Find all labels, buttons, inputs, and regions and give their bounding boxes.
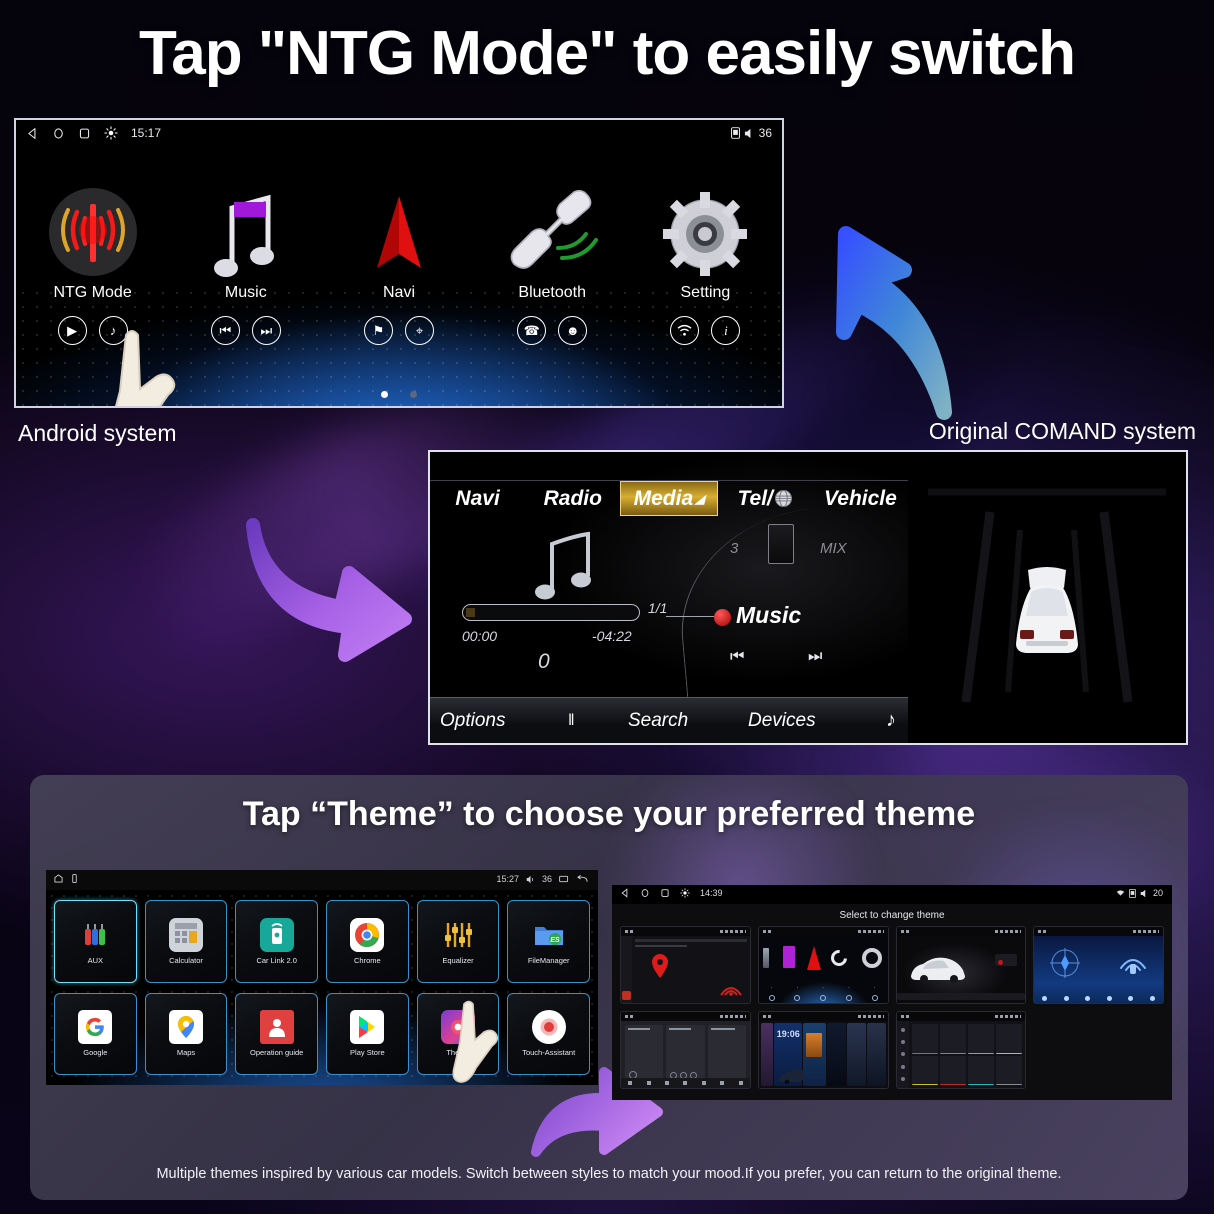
calculator-icon: [169, 918, 203, 952]
android-app-setting[interactable]: Setting i: [629, 186, 782, 345]
theme-chooser-clock: 14:39: [700, 888, 723, 898]
app-grid-head-unit: 15:27 36: [46, 870, 598, 1085]
app-cell-filemanager[interactable]: ES FileManager: [507, 900, 590, 983]
app-cell-operation-guide[interactable]: Operation guide: [235, 993, 318, 1076]
comand-menu-tel-label: Tel/: [738, 487, 773, 511]
app-grid-clock: 15:27: [496, 874, 519, 884]
app-label: Play Store: [350, 1048, 385, 1057]
volume-icon: [744, 128, 755, 139]
comand-track-number: 3: [730, 540, 738, 557]
home-circle-icon[interactable]: [640, 888, 650, 898]
contact-icon[interactable]: ☻: [558, 316, 587, 345]
comand-menu-navi[interactable]: Navi: [430, 481, 525, 516]
app-grid-screen: AUX Calculator: [46, 890, 598, 1085]
comand-track-position: 0: [538, 650, 550, 674]
android-app-label: NTG Mode: [53, 284, 131, 302]
music-note-icon[interactable]: [206, 186, 286, 278]
recent-apps-icon[interactable]: [559, 875, 570, 883]
home-circle-icon[interactable]: [52, 127, 65, 140]
play-store-icon: [350, 1010, 384, 1044]
sd-card-icon: [1129, 889, 1136, 898]
android-app-bluetooth[interactable]: Bluetooth ☎ ☻: [476, 186, 629, 345]
previous-track-icon[interactable]: ⏮: [211, 316, 240, 345]
touch-assistant-icon: [532, 1010, 566, 1044]
comand-media-screen: Navi Radio Media ◢ Tel/ Vehicle: [430, 452, 908, 743]
home-page-indicator[interactable]: [16, 391, 782, 398]
brightness-icon[interactable]: [680, 888, 690, 898]
android-app-navi[interactable]: Navi ⚑ ⌖: [322, 186, 475, 345]
android-system-label: Android system: [18, 420, 177, 447]
comand-vehicle-view: [908, 452, 1186, 743]
back-arrow-icon[interactable]: [577, 875, 588, 884]
navigation-arrow-icon[interactable]: [359, 186, 439, 278]
android-app-ntg-mode[interactable]: NTG Mode ▶ ♪: [16, 186, 169, 345]
android-head-unit: 15:17 36: [14, 118, 784, 408]
theme-thumb-blue-radar[interactable]: [1033, 926, 1164, 1004]
app-cell-aux[interactable]: AUX: [54, 900, 137, 983]
comand-progress-bar[interactable]: [462, 604, 640, 621]
theme-section-caption: Multiple themes inspired by various car …: [30, 1166, 1188, 1182]
android-app-label: Bluetooth: [518, 284, 586, 302]
info-icon[interactable]: i: [711, 316, 740, 345]
globe-icon: [774, 489, 793, 508]
comand-options-button[interactable]: Options: [440, 710, 505, 732]
android-app-label: Setting: [681, 284, 731, 302]
music-note-icon[interactable]: ♪: [99, 316, 128, 345]
app-cell-maps[interactable]: Maps: [145, 993, 228, 1076]
curved-arrow-up-left-icon: [786, 214, 976, 429]
recent-square-icon[interactable]: [78, 127, 91, 140]
comand-menu-radio[interactable]: Radio: [525, 481, 620, 516]
android-app-label: Music: [225, 284, 267, 302]
comand-elapsed-time: 00:00: [462, 628, 497, 644]
comand-menu-media[interactable]: Media ◢: [620, 481, 717, 516]
android-app-label: Navi: [383, 284, 415, 302]
theme-icon: [441, 1010, 475, 1044]
theme-thumb-navigation[interactable]: [620, 926, 751, 1004]
flag-icon[interactable]: ⚑: [364, 316, 393, 345]
page-dot[interactable]: [381, 391, 388, 398]
equalizer-icon: [441, 918, 475, 952]
app-label: FileManager: [528, 956, 570, 965]
app-cell-google[interactable]: Google: [54, 993, 137, 1076]
app-cell-equalizer[interactable]: Equalizer: [417, 900, 500, 983]
comand-mix-label: MIX: [820, 540, 847, 557]
file-manager-icon: ES: [532, 918, 566, 952]
comand-next-icon[interactable]: ⏭: [808, 648, 822, 666]
app-label: Theme: [446, 1048, 469, 1057]
app-label: AUX: [88, 956, 103, 965]
theme-thumb-tile-grid[interactable]: [896, 1011, 1027, 1089]
back-triangle-icon[interactable]: [620, 888, 630, 898]
app-label: Google: [83, 1048, 107, 1057]
sound-note-icon[interactable]: ♪: [886, 709, 896, 732]
app-grid-row: AUX Calculator: [54, 900, 590, 983]
car-on-road-icon: [908, 452, 1186, 743]
apps-icon[interactable]: [71, 874, 78, 883]
brightness-icon[interactable]: [104, 126, 118, 140]
next-track-icon[interactable]: ⏭: [252, 316, 281, 345]
comand-head-unit: Navi Radio Media ◢ Tel/ Vehicle: [428, 450, 1188, 745]
curved-arrow-down-right-icon: [245, 515, 425, 695]
volume-value: 36: [542, 874, 552, 884]
app-label: Calculator: [169, 956, 203, 965]
theme-section-title: Tap “Theme” to choose your preferred the…: [30, 795, 1188, 834]
app-label: Touch-Assistant: [522, 1048, 575, 1057]
app-label: Equalizer: [442, 956, 473, 965]
android-status-right: 36: [731, 126, 772, 140]
radio-tower-icon[interactable]: [47, 186, 139, 278]
theme-section: Tap “Theme” to choose your preferred the…: [30, 775, 1188, 1200]
theme-chooser-status-bar: 14:39 20: [612, 885, 1172, 904]
theme-thumb-default-blue[interactable]: ·····: [758, 926, 889, 1004]
theme-thumb-three-card[interactable]: [620, 1011, 751, 1089]
comand-bottom-bar: Options ‖ Search Devices ♪: [430, 697, 908, 743]
android-home-screen: NTG Mode ▶ ♪ Music ⏮: [16, 146, 782, 406]
theme-thumb-clock-widget[interactable]: 19:06: [758, 1011, 889, 1089]
app-label: Maps: [177, 1048, 195, 1057]
wifi-icon: [1116, 889, 1125, 897]
comand-track-count: 1/1: [648, 600, 667, 616]
recent-square-icon[interactable]: [660, 888, 670, 898]
home-icon[interactable]: [54, 874, 63, 883]
theme-chooser-title: Select to change theme: [612, 904, 1172, 926]
android-clock: 15:17: [131, 126, 161, 140]
app-cell-calculator[interactable]: Calculator: [145, 900, 228, 983]
comand-menu-media-label: Media: [634, 487, 694, 511]
app-label: Operation guide: [250, 1048, 303, 1057]
android-status-bar: 15:17 36: [16, 120, 782, 146]
comand-media-card-icon: [768, 524, 794, 564]
pause-icon[interactable]: ‖: [568, 712, 573, 730]
comand-previous-icon[interactable]: ⏮: [730, 648, 744, 666]
comand-source-dot-icon: [714, 609, 731, 626]
phone-handset-icon[interactable]: [502, 186, 602, 278]
google-icon: [78, 1010, 112, 1044]
gear-icon[interactable]: [661, 186, 749, 278]
comand-search-button[interactable]: Search: [628, 710, 688, 732]
caret-down-icon: ◢: [695, 492, 704, 506]
theme-chooser-head-unit: 14:39 20 Select to change theme: [612, 885, 1172, 1100]
comand-music-note-icon: [526, 530, 608, 608]
volume-icon: [526, 875, 535, 884]
app-grid-row: Google Maps: [54, 993, 590, 1076]
volume-value: 36: [759, 126, 772, 140]
comand-source-label: Music: [736, 602, 801, 629]
comand-remaining-time: -04:22: [592, 628, 632, 644]
car-link-icon: [260, 918, 294, 952]
phone-dial-icon[interactable]: ☎: [517, 316, 546, 345]
app-label: Car Link 2.0: [256, 956, 296, 965]
theme-thumb-car-model[interactable]: [896, 926, 1027, 1004]
app-cell-car-link[interactable]: Car Link 2.0: [235, 900, 318, 983]
sd-card-icon: [731, 127, 740, 139]
aux-plugs-icon: [78, 918, 112, 952]
chrome-icon: [350, 918, 384, 952]
app-grid-status-bar: 15:27 36: [46, 870, 598, 890]
app-cell-theme[interactable]: Theme: [417, 993, 500, 1076]
volume-icon: [1140, 889, 1149, 898]
back-triangle-icon[interactable]: [26, 127, 39, 140]
comand-devices-button[interactable]: Devices: [748, 710, 816, 732]
wifi-icon[interactable]: [670, 316, 699, 345]
play-icon[interactable]: ▶: [58, 316, 87, 345]
theme-thumbnail-grid: ·····: [612, 926, 1172, 1089]
page-title: Tap "NTG Mode" to easily switch: [0, 18, 1214, 89]
operation-guide-icon: [260, 1010, 294, 1044]
map-pin-icon[interactable]: ⌖: [405, 316, 434, 345]
app-label: Chrome: [354, 956, 381, 965]
app-cell-play-store[interactable]: Play Store: [326, 993, 409, 1076]
page-dot[interactable]: [410, 391, 417, 398]
svg-text:ES: ES: [550, 937, 560, 944]
volume-value: 20: [1153, 888, 1163, 898]
android-app-row: NTG Mode ▶ ♪ Music ⏮: [16, 186, 782, 345]
app-cell-chrome[interactable]: Chrome: [326, 900, 409, 983]
maps-pin-icon: [169, 1010, 203, 1044]
android-app-music[interactable]: Music ⏮ ⏭: [169, 186, 322, 345]
